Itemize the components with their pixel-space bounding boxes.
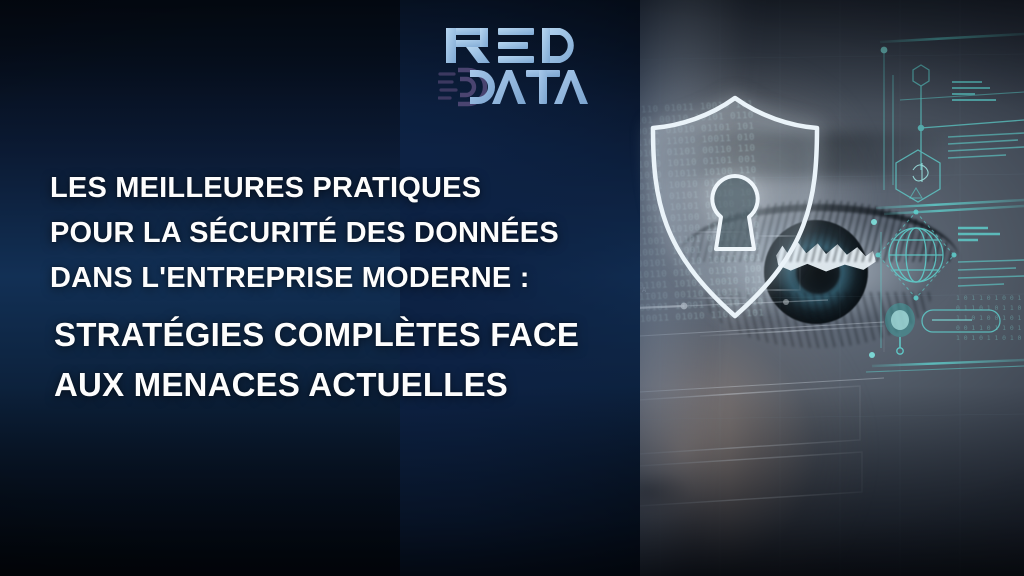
keyhole-icon xyxy=(712,176,757,249)
logo-word-data xyxy=(470,70,588,104)
headline-line-1: LES MEILLEURES PRATIQUES xyxy=(50,166,690,211)
logo-word-red xyxy=(446,28,574,63)
headline-line-3: DANS L'ENTREPRISE MODERNE : xyxy=(50,256,690,301)
headline-line-2: POUR LA SÉCURITÉ DES DONNÉES xyxy=(50,211,690,256)
marketing-banner: 01001 10110 01011 10010 101 1010 01101 0… xyxy=(0,0,1024,576)
headline-line-4: STRATÉGIES COMPLÈTES FACE xyxy=(54,310,690,360)
headline-secondary: STRATÉGIES COMPLÈTES FACE AUX MENACES AC… xyxy=(50,310,690,410)
logo-speed-lines xyxy=(438,74,456,98)
headline-primary: LES MEILLEURES PRATIQUES POUR LA SÉCURIT… xyxy=(50,166,690,301)
logo-red-data[interactable] xyxy=(438,18,598,114)
headline-block: LES MEILLEURES PRATIQUES POUR LA SÉCURIT… xyxy=(50,166,690,410)
headline-line-5: AUX MENACES ACTUELLES xyxy=(54,360,690,410)
